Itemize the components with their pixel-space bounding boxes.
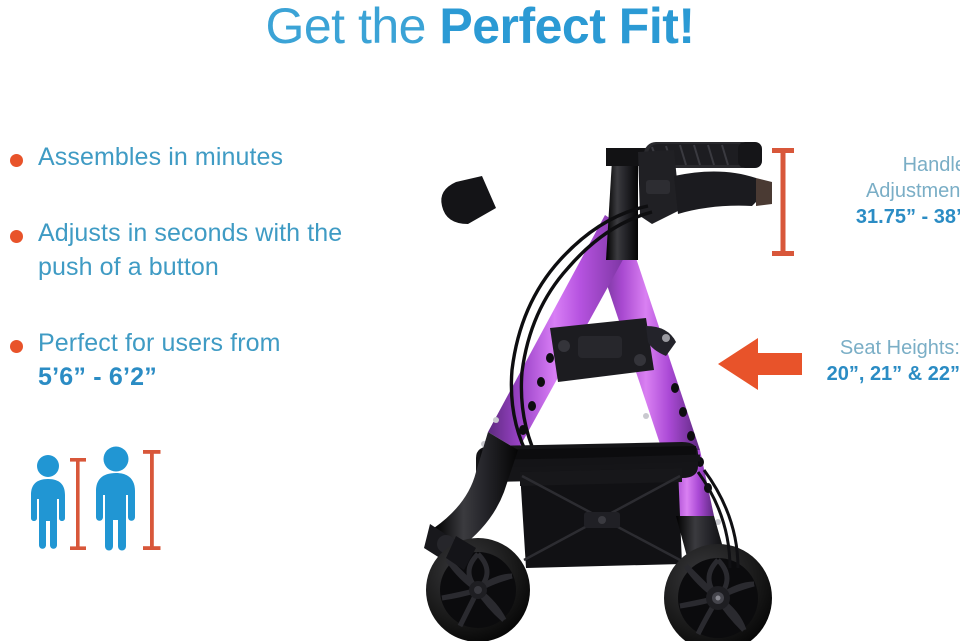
callout-seat-text: Seat Heights: 20”, 21” & 22” [808,335,960,388]
tall-person-icon [96,447,135,551]
user-height-illustration [22,442,172,557]
bullet-dot-icon [10,340,23,353]
callout-handle-text: Handle Adjustment 31.75” - 38” [816,152,960,231]
callout-handle-value: 31.75” - 38” [816,204,960,231]
bullet-dot-icon [10,154,23,167]
callout-handle-line1: Handle [816,152,960,178]
page-title-bold: Perfect Fit! [439,0,694,54]
callout-handle-line2: Adjustment [816,178,960,204]
list-item: Perfect for users from 5’6” - 6’2” [0,326,400,394]
callout-seat-value: 20”, 21” & 22” [808,361,960,388]
feature-bullet-list: Assembles in minutes Adjusts in seconds … [0,140,400,424]
callout-seat-line1: Seat Heights: [808,335,960,361]
list-item: Adjusts in seconds with the push of a bu… [0,216,400,284]
bullet-text: Adjusts in seconds with the push of a bu… [38,219,342,281]
bullet-text: Assembles in minutes [38,143,283,171]
list-item: Assembles in minutes [0,140,400,174]
callout-handle-adjustment: Handle Adjustment 31.75” - 38” [772,144,960,264]
bullet-dot-icon [10,230,23,243]
bullet-emphasis-value: 5’6” - 6’2” [38,360,400,394]
left-arrow-icon [718,336,802,392]
page-title: Get the Perfect Fit! [0,0,960,56]
callout-seat-heights: Seat Heights: 20”, 21” & 22” [712,326,960,406]
short-person-icon [31,455,65,549]
infographic-page: Get the Perfect Fit! Assembles in minute… [0,0,960,641]
bullet-text: Perfect for users from [38,329,281,357]
storage-bag [496,458,700,568]
height-measure-bar-tall [143,450,161,550]
page-title-light: Get the [265,0,439,54]
vertical-measure-bar-icon [772,148,794,256]
height-measure-bar-short [70,458,86,550]
tube-end-cap [441,176,496,224]
